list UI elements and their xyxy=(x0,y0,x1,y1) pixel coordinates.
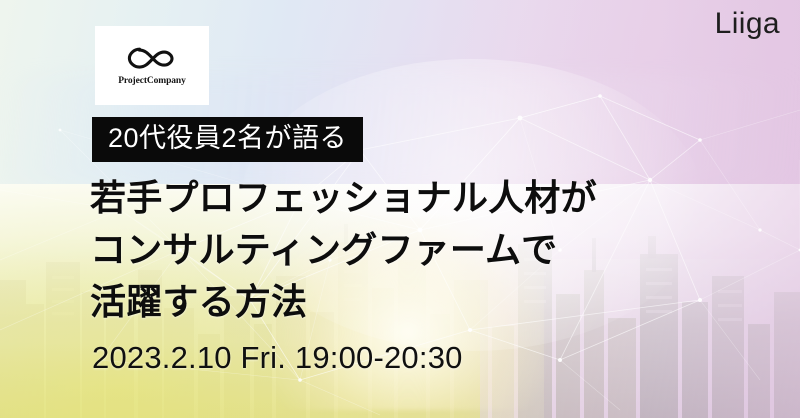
liiga-brand-logo: Liiga xyxy=(715,9,780,39)
headline-line-2: コンサルティングファームで xyxy=(90,224,597,276)
banner-content: ProjectCompany Liiga 20代役員2名が語る 若手プロフェッシ… xyxy=(0,0,800,418)
infinity-icon xyxy=(126,46,178,70)
company-logo-name: ProjectCompany xyxy=(118,76,186,86)
headline: 若手プロフェッショナル人材が コンサルティングファームで 活躍する方法 xyxy=(90,172,597,327)
company-logo-box: ProjectCompany xyxy=(95,26,209,105)
event-badge-label: 20代役員2名が語る xyxy=(108,123,347,153)
headline-line-1: 若手プロフェッショナル人材が xyxy=(90,172,597,224)
event-badge: 20代役員2名が語る xyxy=(92,117,363,162)
event-datetime: 2023.2.10 Fri. 19:00-20:30 xyxy=(92,340,463,376)
event-banner: ProjectCompany Liiga 20代役員2名が語る 若手プロフェッシ… xyxy=(0,0,800,418)
headline-line-3: 活躍する方法 xyxy=(90,276,597,328)
